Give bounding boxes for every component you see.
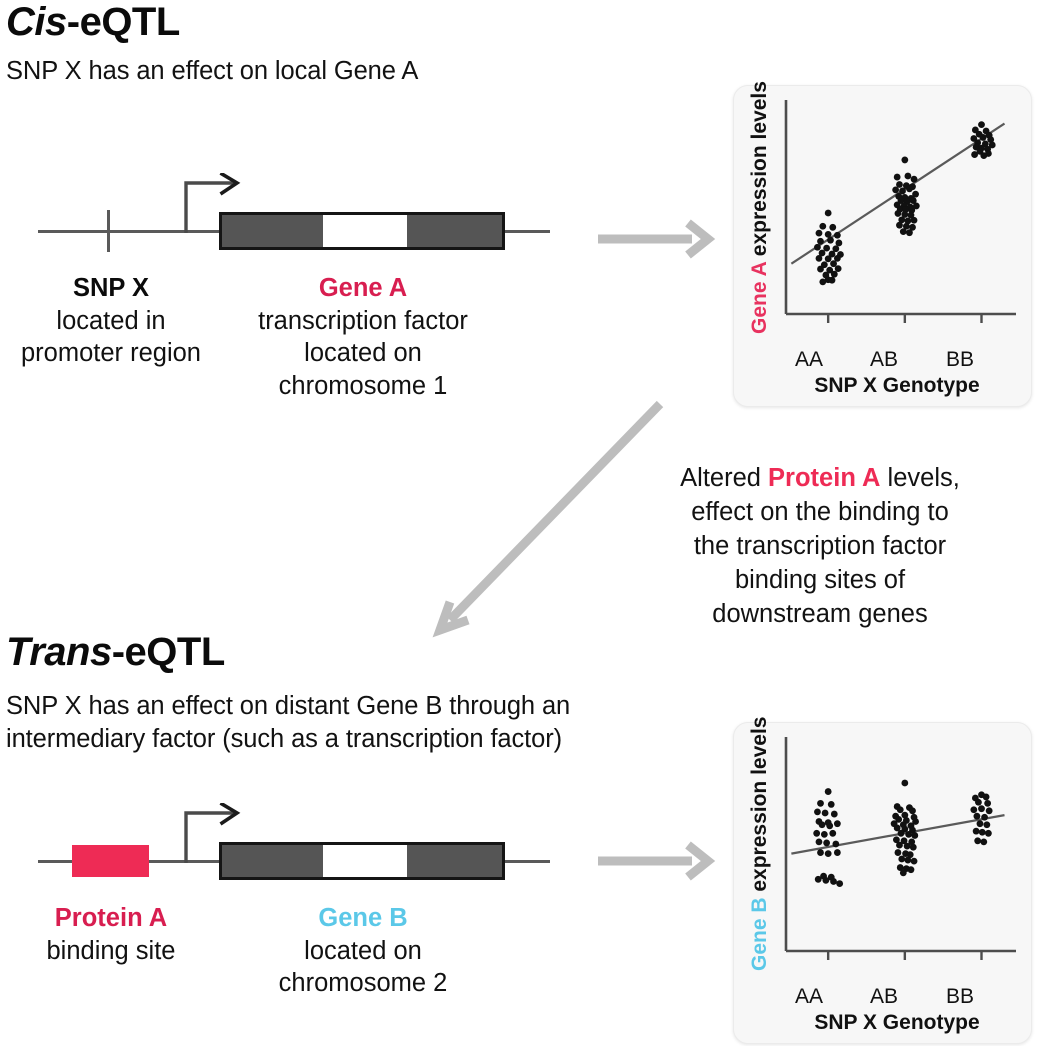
scatter-point [900,228,907,235]
scatter-point [985,830,992,837]
scatter-point [832,841,839,848]
scatter-point [911,832,918,839]
trans-x-axis-title: SNP X Genotype [772,1011,1022,1035]
scatter-point [815,876,822,883]
mid-line1-protein-a: Protein A [768,464,880,492]
eqtl-figure: Cis-eQTL SNP X has an effect on local Ge… [0,0,1039,1046]
cis-y-axis-gene-label: Gene A [748,262,771,334]
trans-section-title: Trans-eQTL [6,632,225,672]
snp-x-label-line-2: promoter region [21,339,201,367]
scatter-point [892,186,899,193]
scatter-point [905,857,912,864]
scatter-point [817,849,824,856]
scatter-point [822,877,829,884]
scatter-point [905,831,912,838]
scatter-point [823,840,830,847]
scatter-point [836,880,843,887]
scatter-point [895,849,902,856]
scatter-point [816,255,823,262]
scatter-point [827,237,834,244]
trans-y-axis-gene-label: Gene B [748,897,771,971]
mid-line4: binding sites of [735,566,905,594]
gene-b-label-line-2: chromosome 2 [279,969,448,997]
scatter-point [973,828,980,835]
scatter-point [910,844,917,851]
scatter-point [830,878,837,885]
scatter-point [908,866,915,873]
trans-x-ticks [828,951,981,960]
protein-a-binding-site-box [72,845,149,877]
mid-line2: effect on the binding to [691,498,949,526]
mid-line1-pre: Altered [680,464,768,492]
cis-y-axis-title: Gene A expression levels [748,81,772,334]
arrow-right-icon-trans [596,840,716,882]
scatter-point [897,806,904,813]
scatter-point [829,830,836,837]
scatter-point [898,856,905,863]
scatter-point [834,820,841,827]
scatter-point [974,813,981,820]
scatter-point [819,821,826,828]
cis-title-italic: Cis [6,0,67,44]
trans-subtitle-line-1: SNP X has an effect on distant Gene B th… [6,692,570,720]
scatter-point [906,185,913,192]
scatter-point [978,121,985,128]
gene-b-exon-left [222,845,323,877]
scatter-point [825,255,832,262]
scatter-point [979,829,986,836]
scatter-point [829,277,836,284]
scatter-point [980,134,987,141]
scatter-point [906,229,913,236]
scatter-point [834,232,841,239]
scatter-point [901,780,908,787]
scatter-point [831,811,838,818]
scatter-point [825,788,832,795]
snp-x-label-header: SNP X [0,272,222,305]
scatter-point [898,830,905,837]
scatter-point [829,224,836,231]
scatter-point [905,173,912,180]
gene-b-label-block: Gene B located on chromosome 2 [230,902,496,1000]
scatter-point [981,814,988,821]
scatter-point [970,806,977,813]
gene-b-exon-right [407,845,502,877]
scatter-point [825,850,832,857]
gene-a-label-line-1: transcription factor [258,307,468,335]
trans-data-points [813,780,992,887]
scatter-point [828,801,835,808]
scatter-point [900,869,907,876]
scatter-point [813,830,820,837]
scatter-point [986,807,993,814]
cis-tick-label-ab: AB [861,348,907,372]
scatter-point [975,799,982,806]
gene-a-body [219,212,505,250]
scatter-point [911,858,918,865]
cis-tick-label-aa: AA [786,348,832,372]
scatter-point [909,807,916,814]
cis-y-axis-rest: expression levels [748,81,771,262]
gene-a-label-header: Gene A [230,272,496,305]
trans-scatter-svg [772,733,1022,983]
trans-gene-track [0,790,600,900]
trans-subtitle: SNP X has an effect on distant Gene B th… [6,690,570,755]
protein-a-label-block: Protein A binding site [0,902,222,967]
middle-explanation-text: Altered Protein A levels, effect on the … [620,462,1020,632]
scatter-point [896,842,903,849]
scatter-point [816,230,823,237]
scatter-point [814,244,821,251]
scatter-point [826,822,833,829]
cis-scatter-svg [772,96,1022,346]
scatter-point [816,838,823,845]
scatter-point [817,800,824,807]
mid-line1-post: levels, [880,464,959,492]
cis-x-ticks [828,314,981,323]
scatter-point [834,849,841,856]
trans-tick-label-bb: BB [937,985,983,1009]
protein-a-label-line-1: binding site [46,937,175,965]
scatter-point [901,157,908,164]
trans-title-italic: Trans [6,630,112,674]
scatter-point [980,838,987,845]
scatter-point [911,217,918,224]
gene-b-label-line-1: located on [304,937,422,965]
scatter-point [825,210,832,217]
scatter-point [819,223,826,230]
trans-subtitle-line-2: intermediary factor (such as a transcrip… [6,725,562,753]
trans-y-axis-title: Gene B expression levels [748,717,772,971]
gene-b-label-header: Gene B [230,902,496,935]
snp-x-label-block: SNP X located in promoter region [0,272,222,370]
scatter-point [978,805,985,812]
scatter-point [904,843,911,850]
arrow-right-icon-cis [596,218,716,260]
mid-line5: downstream genes [712,600,927,628]
cis-scatter-panel: Gene A expression levels AA AB BB SNP X … [733,85,1032,407]
cis-subtitle: SNP X has an effect on local Gene A [6,55,418,88]
gene-a-exon-right [407,215,502,247]
cis-section-title: Cis-eQTL [6,2,180,42]
snp-x-tick-marker [107,210,110,252]
scatter-point [817,266,824,273]
scatter-point [814,809,821,816]
scatter-point [911,176,918,183]
scatter-point [983,794,990,801]
scatter-point [821,831,828,838]
cis-gene-track [0,155,600,265]
scatter-point [831,271,838,278]
cis-data-points [814,121,996,285]
scatter-point [835,265,842,272]
gene-b-intron [323,845,407,877]
scatter-point [977,820,984,827]
trans-tick-label-aa: AA [786,985,832,1009]
trans-scatter-panel: Gene B expression levels AA AB BB SNP X … [733,722,1032,1044]
trans-title-rest: -eQTL [112,630,225,674]
scatter-point [974,837,981,844]
scatter-point [895,210,902,217]
gene-a-exon-left [222,215,323,247]
scatter-point [896,222,903,229]
gene-a-intron [323,215,407,247]
cis-x-axis-title: SNP X Genotype [772,374,1022,398]
scatter-point [983,821,990,828]
scatter-point [980,152,987,159]
scatter-point [817,238,824,245]
scatter-point [819,279,826,286]
scatter-point [984,800,991,807]
scatter-point [836,240,843,247]
gene-a-label-line-2: located on [304,339,422,367]
snp-x-label-line-1: located in [56,307,165,335]
protein-a-label-header: Protein A [0,902,222,935]
scatter-point [822,810,829,817]
mid-line3: the transcription factor [694,532,946,560]
scatter-point [971,151,978,158]
scatter-point [894,174,901,181]
gene-b-body [219,842,505,880]
trans-tick-label-ab: AB [861,985,907,1009]
cis-tick-label-bb: BB [937,348,983,372]
trans-y-axis-rest: expression levels [748,717,771,898]
cis-title-rest: -eQTL [67,0,180,44]
gene-a-label-block: Gene A transcription factor located on c… [230,272,496,403]
